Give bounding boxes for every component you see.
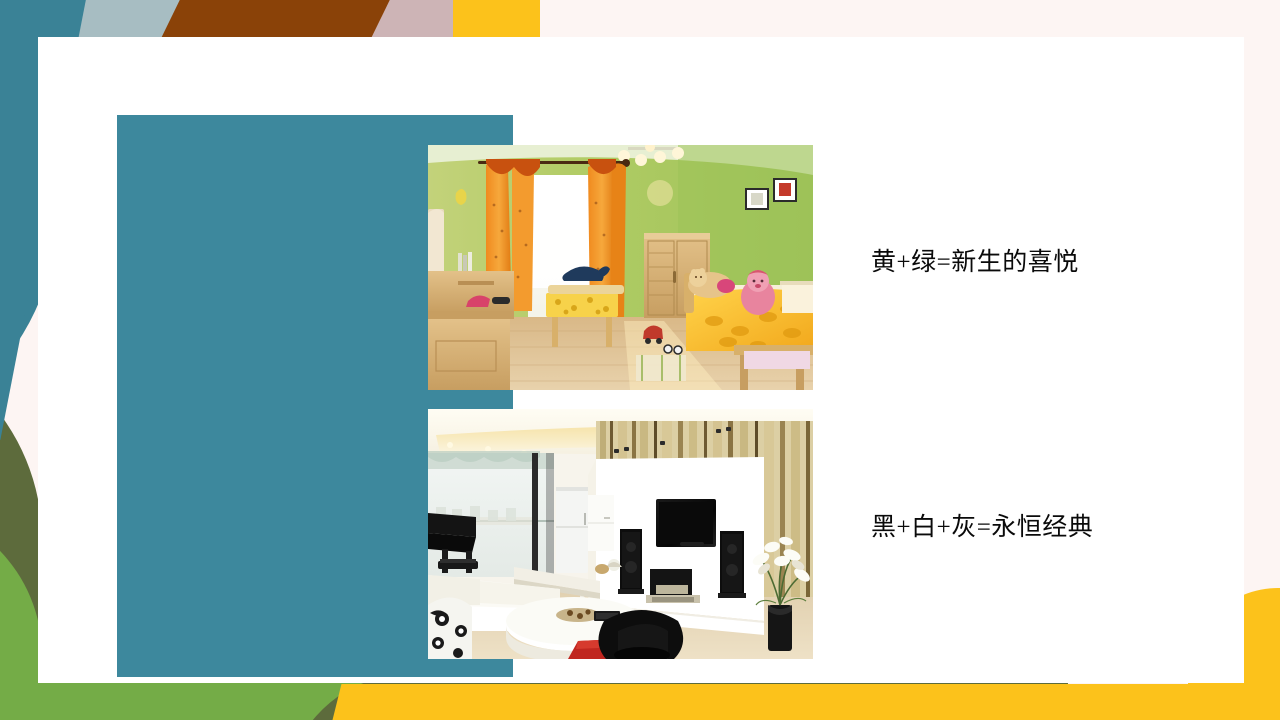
bottom-yellow-shape: [327, 684, 1280, 720]
kids-bedroom-illustration: [428, 145, 813, 390]
caption-text-1: 黄+绿=新生的喜悦: [871, 247, 1079, 278]
presentation-slide: 黄+绿=新生的喜悦 黑+白+灰=永恒经典: [0, 0, 1280, 720]
slide-content-card: 黄+绿=新生的喜悦 黑+白+灰=永恒经典: [38, 37, 1244, 683]
green-kids-bedroom-photo: [428, 145, 813, 390]
living-room-illustration: [428, 409, 813, 659]
black-white-living-room-photo: [428, 409, 813, 659]
caption-text-2: 黑+白+灰=永恒经典: [871, 512, 1093, 543]
top-cream-gap-shape: [540, 0, 1280, 40]
